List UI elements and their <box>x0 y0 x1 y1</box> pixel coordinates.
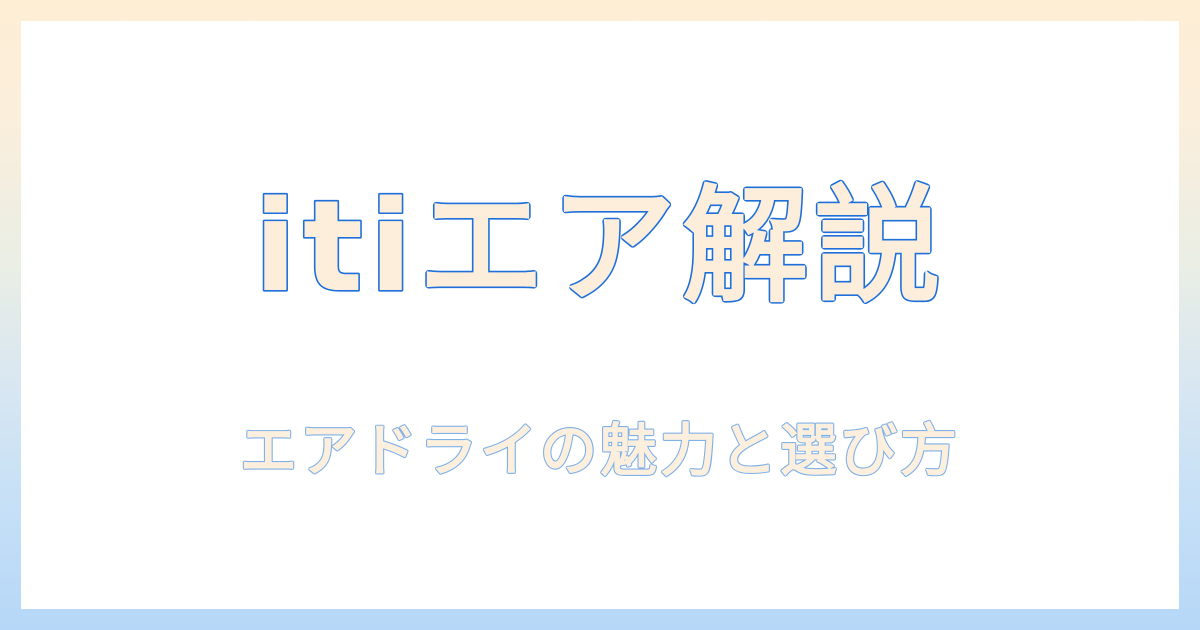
page-subtitle: エアドライの魅力と選び方 <box>180 402 1020 498</box>
page-subtitle-text: エアドライの魅力と選び方 <box>240 418 960 484</box>
ogp-banner: itiエア解説 エアドライの魅力と選び方 <box>0 0 1200 630</box>
white-card: itiエア解説 エアドライの魅力と選び方 <box>21 21 1179 609</box>
page-title-text: itiエア解説 <box>254 173 947 320</box>
page-title: itiエア解説 <box>150 150 1050 340</box>
banner-content: itiエア解説 エアドライの魅力と選び方 <box>21 21 1179 609</box>
